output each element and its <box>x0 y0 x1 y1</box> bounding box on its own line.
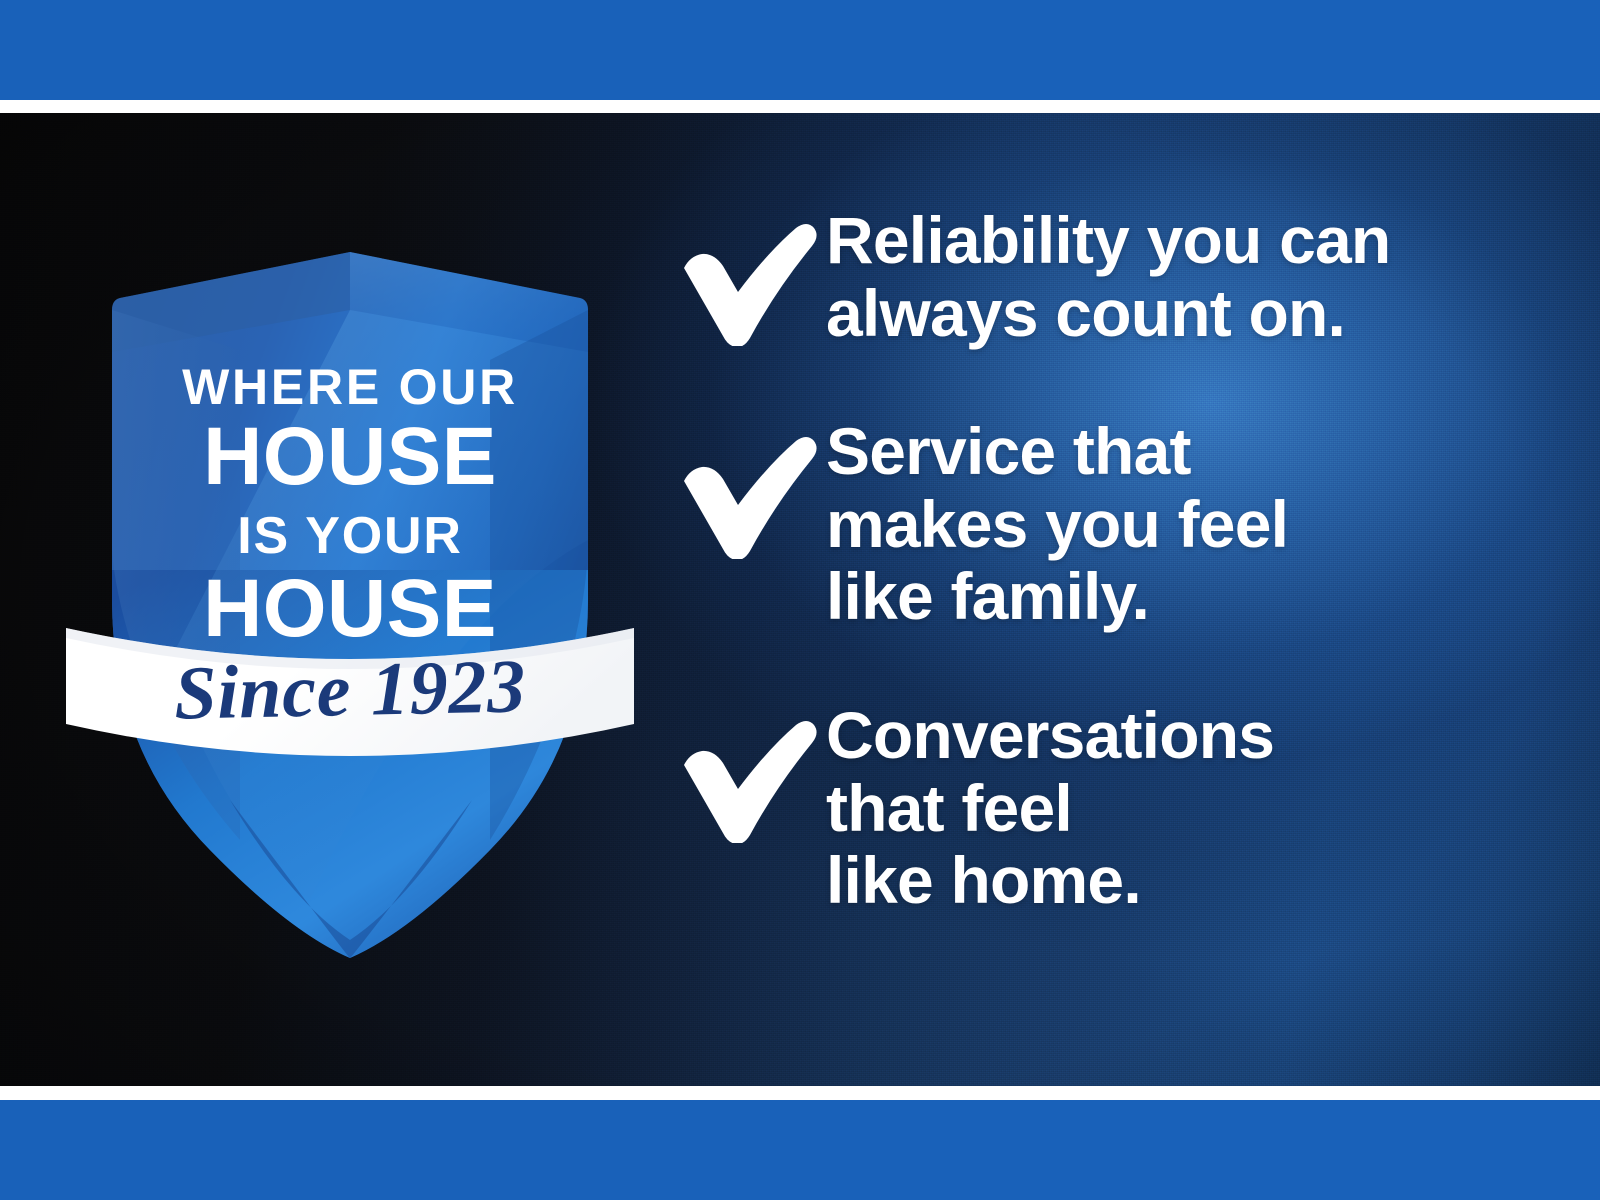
list-item-label: Reliability you can always count on. <box>826 200 1556 349</box>
benefits-list: Reliability you can always count on. Ser… <box>676 200 1556 917</box>
bottom-divider-stripe <box>0 1086 1600 1100</box>
check-icon <box>676 713 826 843</box>
check-icon <box>676 216 826 346</box>
list-item: Service that makes you feel like family. <box>676 413 1556 633</box>
top-divider-stripe <box>0 100 1600 113</box>
check-icon <box>676 429 826 559</box>
list-item: Reliability you can always count on. <box>676 200 1556 349</box>
top-brand-bar <box>0 0 1600 100</box>
shield-badge: Where Our House Is Your House Since 1923 <box>60 240 640 970</box>
list-item: Conversations that feel like home. <box>676 697 1556 917</box>
list-item-label: Conversations that feel like home. <box>826 697 1556 917</box>
poster-canvas: Where Our House Is Your House Since 1923… <box>0 0 1600 1200</box>
list-item-label: Service that makes you feel like family. <box>826 413 1556 633</box>
bottom-brand-bar <box>0 1100 1600 1200</box>
